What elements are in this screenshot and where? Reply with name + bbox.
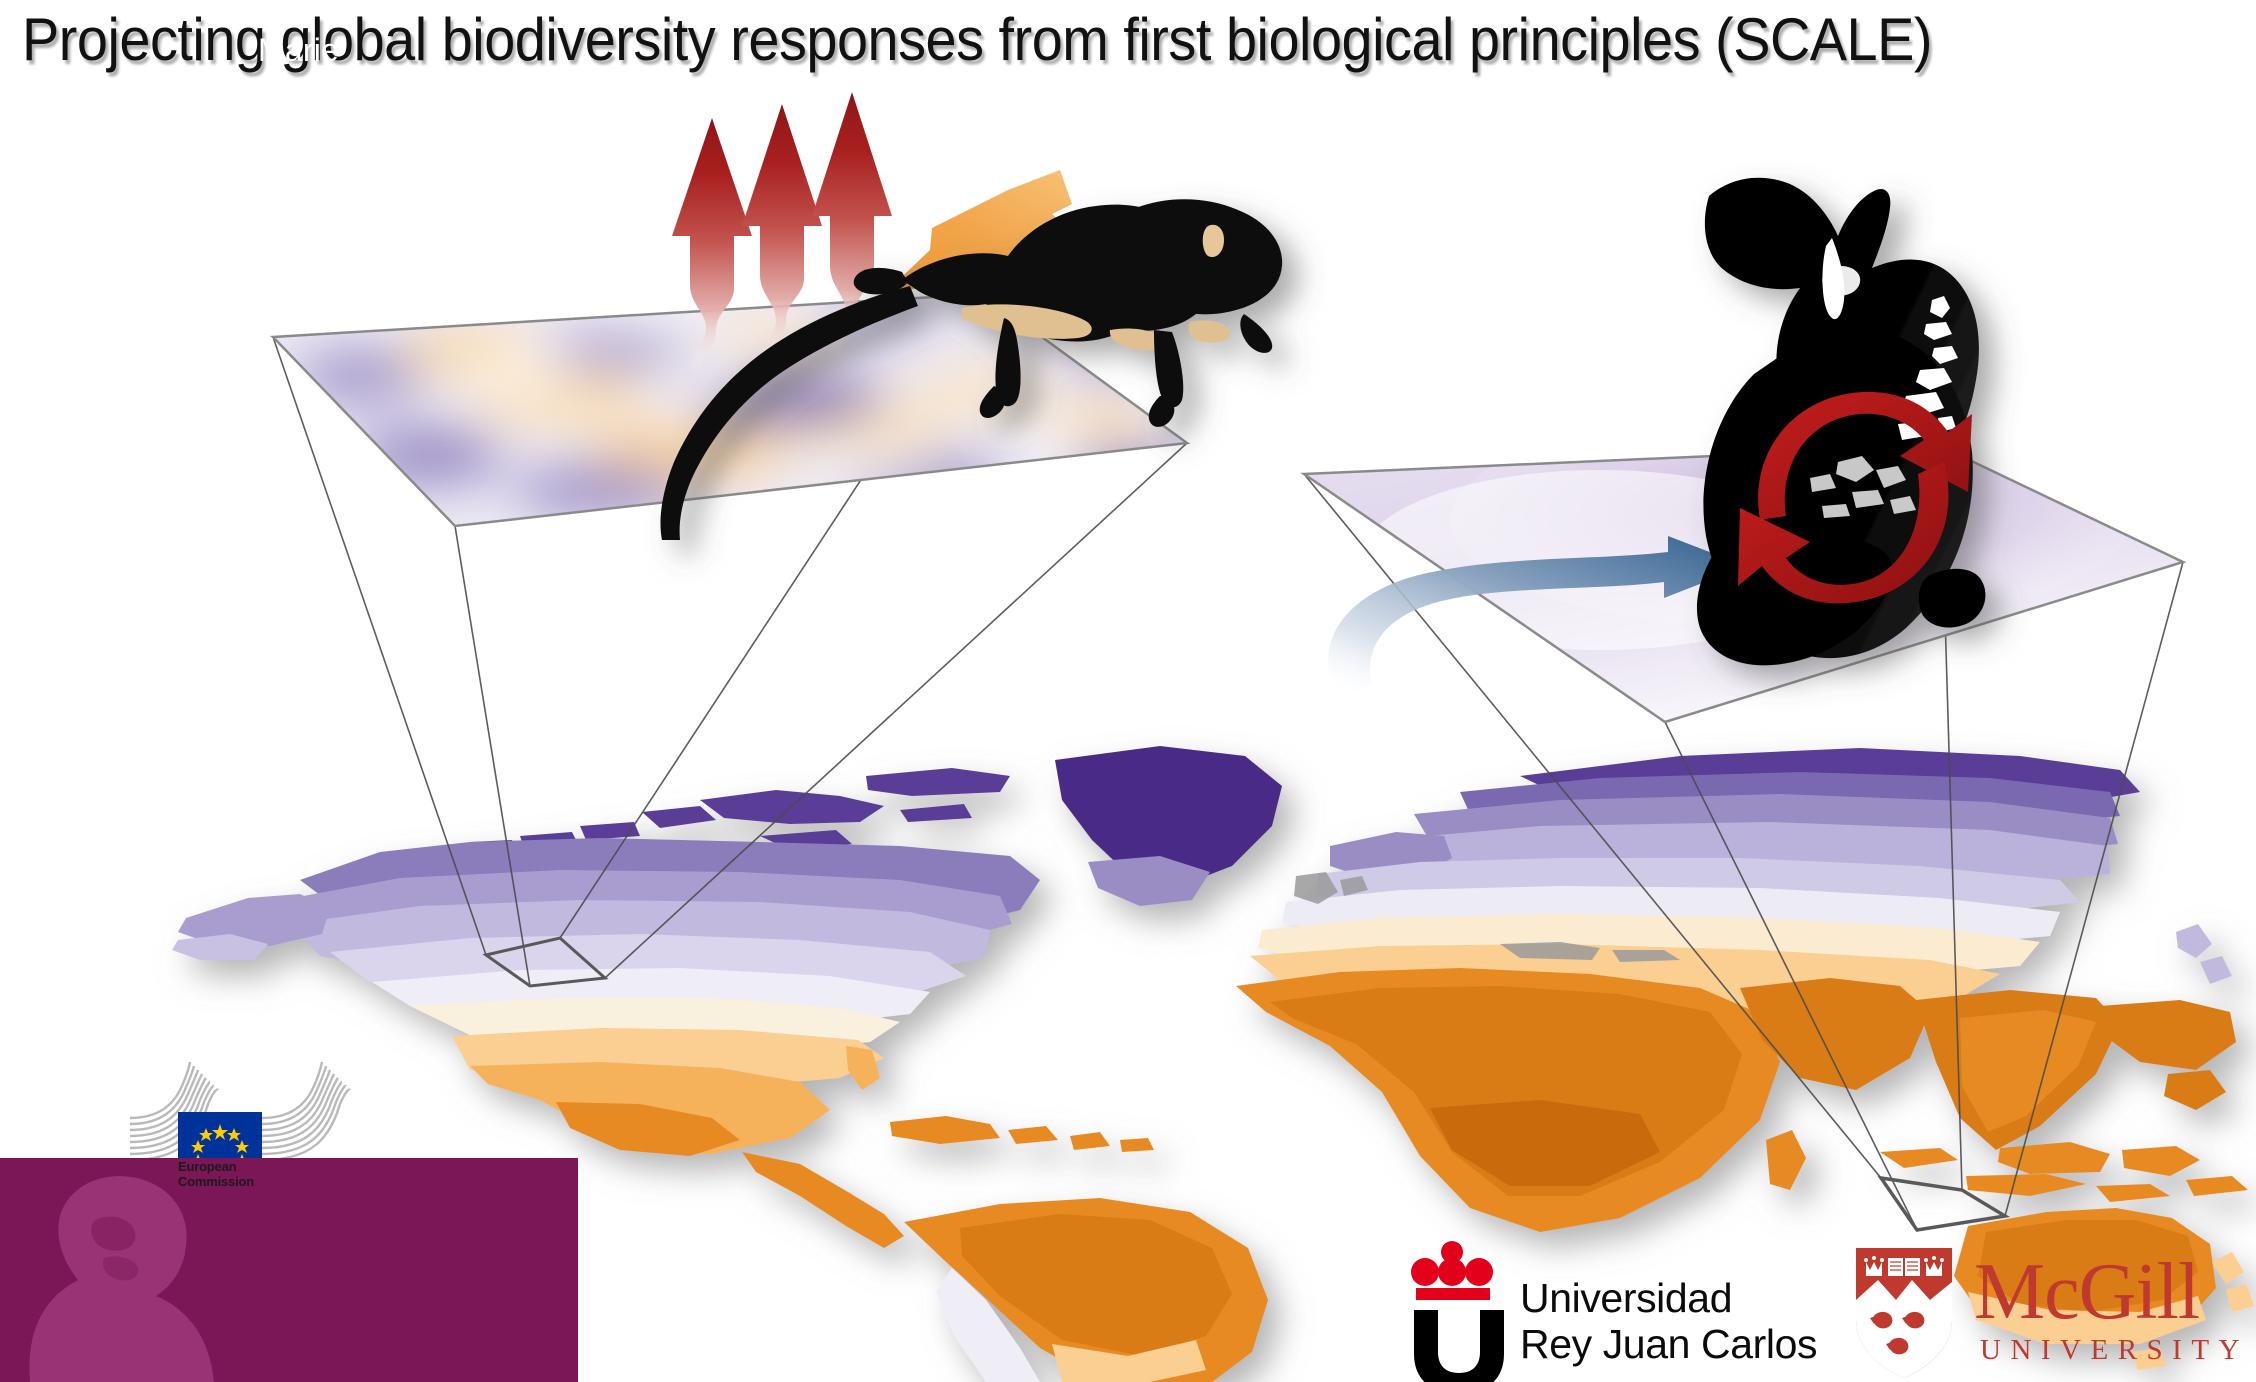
solar-radiation-arrow	[886, 170, 1080, 292]
marie-sklodowska-curie-actions-logo	[0, 1158, 578, 1382]
urjc-line2: Rey Juan Carlos	[1520, 1322, 1817, 1368]
map-region-scandinavia	[1330, 832, 1452, 878]
life-cycle-arrow	[1738, 392, 1972, 604]
mcgill-martlet-icon	[1870, 1312, 1924, 1354]
urjc-line1: Universidad	[1520, 1276, 1817, 1322]
urjc-crown-dot	[1411, 1258, 1439, 1286]
urjc-monogram-u	[1414, 1310, 1504, 1382]
map-region-greenland	[1055, 746, 1282, 886]
map-region-canada	[300, 838, 1040, 944]
mcgill-book-icon	[1888, 1258, 1920, 1276]
heat-loss-arrow	[672, 118, 752, 372]
map-region-alaska	[178, 894, 330, 946]
msca-line3: Actions	[258, 118, 519, 163]
map-region-southeast-asia	[2100, 1000, 2236, 1110]
heat-loss-arrow	[742, 104, 822, 364]
msca-line2: Skłodowska-Curie	[258, 73, 519, 118]
map-region-europe	[1316, 858, 2080, 924]
urjc-crown-dot	[1438, 1258, 1466, 1286]
map-region-andes	[936, 1268, 1040, 1382]
lizard-eye	[1203, 225, 1224, 257]
european-commission-wave-mark	[262, 1062, 350, 1160]
orca-silhouette	[1697, 178, 1986, 666]
north-america-inset-box	[486, 938, 605, 986]
map-region-arctic-canada	[470, 768, 1010, 854]
southern-ocean-inset-box	[1881, 1178, 2005, 1230]
map-region-siberia	[1520, 748, 2140, 812]
lizard-silhouette	[661, 199, 1283, 540]
msca-wordmark: Marie Skłodowska-Curie Actions	[258, 28, 519, 162]
ocean-plane	[1304, 410, 2183, 722]
map-region-mexico	[470, 1062, 830, 1154]
heat-loss-arrow-group	[672, 92, 892, 372]
map-region-india	[1916, 990, 2120, 1150]
ec-caption-line1: European	[178, 1160, 256, 1175]
microclimate-heatmap-plane	[250, 280, 1210, 550]
heat-loss-arrow	[812, 92, 892, 356]
msca-line1: Marie	[258, 28, 519, 73]
mcgill-subtitle: UNIVERSITY	[1980, 1334, 2249, 1367]
map-region-indonesia	[1880, 1100, 2248, 1202]
urjc-crown-dot	[1465, 1258, 1493, 1286]
mcgill-wordmark: McGill	[1974, 1252, 2199, 1332]
universidad-rey-juan-carlos-logo	[1411, 1241, 1504, 1382]
marie-curie-silhouette	[29, 1176, 214, 1382]
dispersal-arrow	[1328, 536, 1746, 692]
map-region-south-america	[904, 1198, 1268, 1382]
global-projection-map	[172, 746, 2254, 1382]
orca-map-markings	[1810, 456, 1916, 518]
mcgill-crown-icon	[1924, 1256, 1944, 1276]
mcgill-crown-icon	[1864, 1256, 1884, 1276]
urjc-crown-dot	[1441, 1241, 1463, 1263]
european-commission-wave-mark	[130, 1062, 218, 1160]
left-frustum-lines	[273, 294, 1187, 986]
urjc-wordmark: Universidad Rey Juan Carlos	[1520, 1276, 1817, 1368]
mcgill-shield-icon	[1856, 1248, 1952, 1378]
map-region-usa-south	[452, 1028, 884, 1090]
orca-map-markings	[1898, 296, 1958, 440]
european-commission-caption: European Commission	[178, 1160, 256, 1189]
map-region-africa	[1236, 968, 1780, 1232]
ec-caption-line2: Commission	[178, 1175, 256, 1190]
map-region-central-america	[742, 1152, 904, 1248]
urjc-crown-bar	[1416, 1288, 1490, 1300]
map-region-arabia	[1740, 978, 1930, 1090]
right-frustum-lines	[1304, 446, 2183, 1230]
map-region-new-zealand-islands	[2212, 1252, 2254, 1312]
figure-illustration	[0, 0, 2256, 1382]
map-region-madagascar	[1766, 1130, 1806, 1190]
